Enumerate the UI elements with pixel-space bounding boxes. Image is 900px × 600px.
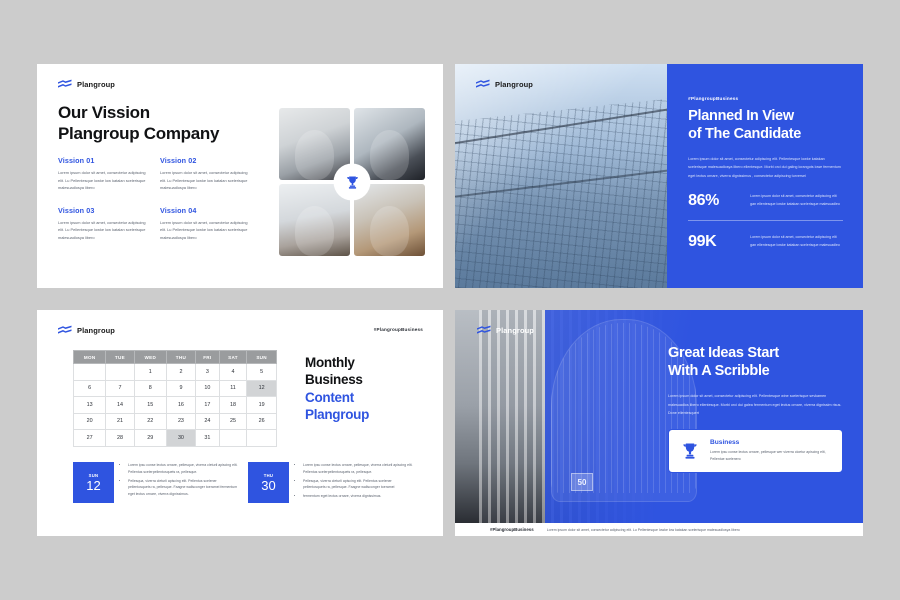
vission-item-4[interactable]: Vission 04 Lorem ipsum dolor sit amet, c…	[160, 206, 248, 242]
date-badge: SUN 12	[73, 462, 114, 503]
calendar-cell[interactable]: 14	[106, 397, 134, 414]
slide-body-text: Lorem ipsum dolor sit amet, consectetur …	[668, 392, 843, 417]
calendar-cell[interactable]: 23	[166, 413, 195, 430]
calendar-cell[interactable]: 15	[134, 397, 166, 414]
date-day-of-week: SUN	[89, 473, 99, 478]
calendar-cell[interactable]	[106, 364, 134, 381]
plangroup-wave-mark-icon	[476, 325, 492, 336]
calendar-cell[interactable]: 9	[166, 380, 195, 397]
vission-heading: Vission 01	[58, 156, 146, 165]
calendar-cell[interactable]: 27	[74, 430, 106, 447]
stat-row-2: 99K Lorem ipsum dolor sit amet, consecte…	[688, 233, 843, 251]
date-cards: SUN 12 Lorem ipsu conse lectus ornare, p…	[73, 462, 413, 503]
date-badge: THU 30	[248, 462, 289, 503]
calendar-cell[interactable]: 16	[166, 397, 195, 414]
date-card-thu-30[interactable]: THU 30 Lorem ipsu conse lectus ornare, p…	[248, 462, 413, 503]
calendar-cell[interactable]: 25	[219, 413, 246, 430]
calendar-day-header: FRI	[195, 351, 219, 364]
stat-value: 99K	[688, 233, 740, 251]
calendar-cell[interactable]: 31	[195, 430, 219, 447]
slide-monthly-calendar[interactable]: Plangroup #PlangroupBusiness MON TUE WED…	[37, 310, 443, 536]
vission-item-2[interactable]: Vission 02 Lorem ipsum dolor sit amet, c…	[160, 156, 248, 192]
slide-our-vission[interactable]: Plangroup Our Vission Plangroup Company …	[37, 64, 443, 288]
heading-line-2: Business	[305, 371, 369, 388]
calendar-cell[interactable]: 1	[134, 364, 166, 381]
list-item: Pellesqua, viverra cleturli apiscing eli…	[303, 478, 413, 492]
calendar-cell-highlighted[interactable]: 30	[166, 430, 195, 447]
team-photo-2	[354, 108, 425, 180]
vission-body: Lorem ipsum dolor sit amet, consectetur …	[160, 219, 248, 242]
calendar-day-header: SAT	[219, 351, 246, 364]
team-photo-collage	[279, 108, 425, 256]
business-card-text: Business Lorem ipsu conse lectus ornare,…	[710, 439, 831, 463]
list-item: Lorem ipsu conse lectus ornare, pellesqu…	[303, 462, 413, 476]
calendar-week-row: 1 2 3 4 5	[74, 364, 277, 381]
calendar-day-header: TUE	[106, 351, 134, 364]
brand-logo: Plangroup	[476, 325, 534, 336]
hashtag-label: #PlangroupBusiness	[374, 327, 423, 332]
brand-logo: Plangroup	[57, 79, 115, 90]
calendar-cell[interactable]: 11	[219, 380, 246, 397]
page-title: Monthly Business Content Plangroup	[305, 354, 369, 424]
vission-body: Lorem ipsum dolor sit amet, consectetur …	[160, 169, 248, 192]
vission-body: Lorem ipsum dolor sit amet, consectetur …	[58, 219, 146, 242]
calendar-cell[interactable]: 17	[195, 397, 219, 414]
slide-planned-in-view[interactable]: Plangroup #PlangroupBusiness Planned In …	[455, 64, 863, 288]
trophy-icon	[344, 174, 360, 190]
vission-list: Vission 01 Lorem ipsum dolor sit amet, c…	[58, 156, 248, 242]
calendar-cell[interactable]: 5	[247, 364, 277, 381]
calendar-week-row: 6 7 8 9 10 11 12	[74, 380, 277, 397]
calendar-cell[interactable]: 21	[106, 413, 134, 430]
calendar-table[interactable]: MON TUE WED THU FRI SAT SUN 1 2 3 4	[73, 350, 277, 447]
calendar-cell[interactable]	[74, 364, 106, 381]
slide-title: Great Ideas Start With A Scribble	[668, 344, 843, 380]
building-photo	[455, 64, 667, 288]
brand-name: Plangroup	[77, 326, 115, 335]
stat-divider	[688, 220, 843, 221]
plangroup-wave-mark-icon	[57, 79, 73, 90]
calendar-cell[interactable]: 10	[195, 380, 219, 397]
heading-line-1: Monthly	[305, 354, 369, 371]
team-photo-1	[279, 108, 350, 180]
brand-logo: Plangroup	[475, 79, 533, 90]
trophy-icon	[680, 441, 700, 461]
business-card[interactable]: Business Lorem ipsu conse lectus ornare,…	[668, 429, 843, 473]
stat-description: Lorem ipsum dolor sit amet, consectetur …	[750, 193, 843, 208]
team-photo-3	[279, 184, 350, 256]
calendar-day-header: THU	[166, 351, 195, 364]
date-bullet-list: Lorem ipsu conse lectus ornare, pellesqu…	[122, 462, 238, 503]
calendar-cell[interactable]: 18	[219, 397, 246, 414]
calendar-cell[interactable]: 28	[106, 430, 134, 447]
calendar-cell[interactable]: 22	[134, 413, 166, 430]
stat-value: 86%	[688, 192, 740, 210]
title-line-1: Great Ideas Start	[668, 344, 843, 362]
heading-line-3: Content	[305, 389, 369, 406]
card-title: Business	[710, 439, 831, 446]
calendar-cell[interactable]: 24	[195, 413, 219, 430]
title-line-1: Our Vission	[58, 102, 219, 123]
slide-body-text: Lorem ipsum dolor sit amet, consectetur …	[688, 155, 843, 180]
calendar-body: 1 2 3 4 5 6 7 8 9 10 11 12 13 14	[74, 364, 277, 447]
calendar-cell[interactable]: 19	[247, 397, 277, 414]
brand-name: Plangroup	[77, 80, 115, 89]
calendar-cell[interactable]: 6	[74, 380, 106, 397]
calendar-day-header: WED	[134, 351, 166, 364]
team-photo-4	[354, 184, 425, 256]
heading-line-4: Plangroup	[305, 406, 369, 423]
calendar-cell[interactable]	[247, 430, 277, 447]
stat-row-1: 86% Lorem ipsum dolor sit amet, consecte…	[688, 192, 843, 210]
title-line-2: Plangroup Company	[58, 123, 219, 144]
calendar-week-row: 13 14 15 16 17 18 19	[74, 397, 277, 414]
list-item: fermentum eget lectus ornare, viverra di…	[303, 493, 413, 500]
date-day-of-week: THU	[264, 473, 274, 478]
date-card-sun-12[interactable]: SUN 12 Lorem ipsu conse lectus ornare, p…	[73, 462, 238, 503]
trophy-badge	[336, 166, 369, 199]
stat-description: Lorem ipsum dolor sit amet, consectetur …	[750, 234, 843, 249]
calendar-cell[interactable]	[219, 430, 246, 447]
vission-heading: Vission 02	[160, 156, 248, 165]
calendar-cell[interactable]: 20	[74, 413, 106, 430]
vission-item-3[interactable]: Vission 03 Lorem ipsum dolor sit amet, c…	[58, 206, 146, 242]
calendar-header-row: MON TUE WED THU FRI SAT SUN	[74, 351, 277, 364]
title-line-2: With A Scribble	[668, 362, 843, 380]
building-sign: 50	[571, 473, 593, 491]
calendar-cell[interactable]: 2	[166, 364, 195, 381]
calendar-cell[interactable]: 26	[247, 413, 277, 430]
plangroup-wave-mark-icon	[57, 325, 73, 336]
calendar-cell[interactable]: 29	[134, 430, 166, 447]
calendar-cell[interactable]: 3	[195, 364, 219, 381]
calendar-day-header: MON	[74, 351, 106, 364]
page-title: Our Vission Plangroup Company	[58, 102, 219, 145]
brand-name: Plangroup	[496, 326, 534, 335]
footer-hashtag: #PlangroupBusiness	[490, 527, 534, 532]
date-day-number: 30	[261, 479, 275, 493]
vission-item-1[interactable]: Vission 01 Lorem ipsum dolor sit amet, c…	[58, 156, 146, 192]
slides-canvas: Plangroup Our Vission Plangroup Company …	[0, 0, 900, 600]
brand-logo: Plangroup	[57, 325, 115, 336]
card-body: Lorem ipsu conse lectus ornare, pellesqu…	[710, 449, 831, 463]
vission-body: Lorem ipsum dolor sit amet, consectetur …	[58, 169, 146, 192]
title-line-1: Planned In View	[688, 108, 843, 126]
vission-heading: Vission 03	[58, 206, 146, 215]
calendar-cell[interactable]: 7	[106, 380, 134, 397]
date-day-number: 12	[86, 479, 100, 493]
calendar-cell[interactable]: 13	[74, 397, 106, 414]
plangroup-wave-mark-icon	[475, 79, 491, 90]
footer-text: Lorem ipsum dolor sit amet, consectetur …	[547, 528, 740, 532]
hashtag-label: #PlangroupBusiness	[688, 96, 843, 101]
content-panel: #PlangroupBusiness Planned In View of Th…	[667, 64, 863, 288]
slide-title: Planned In View of The Candidate	[688, 108, 843, 144]
calendar-cell[interactable]: 4	[219, 364, 246, 381]
calendar-week-row: 20 21 22 23 24 25 26	[74, 413, 277, 430]
brand-name: Plangroup	[495, 80, 533, 89]
title-line-2: of The Candidate	[688, 126, 843, 144]
calendar-day-header: SUN	[247, 351, 277, 364]
slide-great-ideas[interactable]: Plangroup 50 Great Ideas Start With A Sc…	[455, 310, 863, 536]
list-item: Pellesqua, viverra cleturli apiscing eli…	[128, 478, 238, 498]
calendar-cell-highlighted[interactable]: 12	[247, 380, 277, 397]
calendar-cell[interactable]: 8	[134, 380, 166, 397]
calendar-week-row: 27 28 29 30 31	[74, 430, 277, 447]
date-bullet-list: Lorem ipsu conse lectus ornare, pellesqu…	[297, 462, 413, 503]
vission-heading: Vission 04	[160, 206, 248, 215]
list-item: Lorem ipsu conse lectus ornare, pellesqu…	[128, 462, 238, 476]
slide-footer: #PlangroupBusiness Lorem ipsum dolor sit…	[455, 523, 863, 536]
content-panel: Great Ideas Start With A Scribble Lorem …	[668, 344, 843, 473]
